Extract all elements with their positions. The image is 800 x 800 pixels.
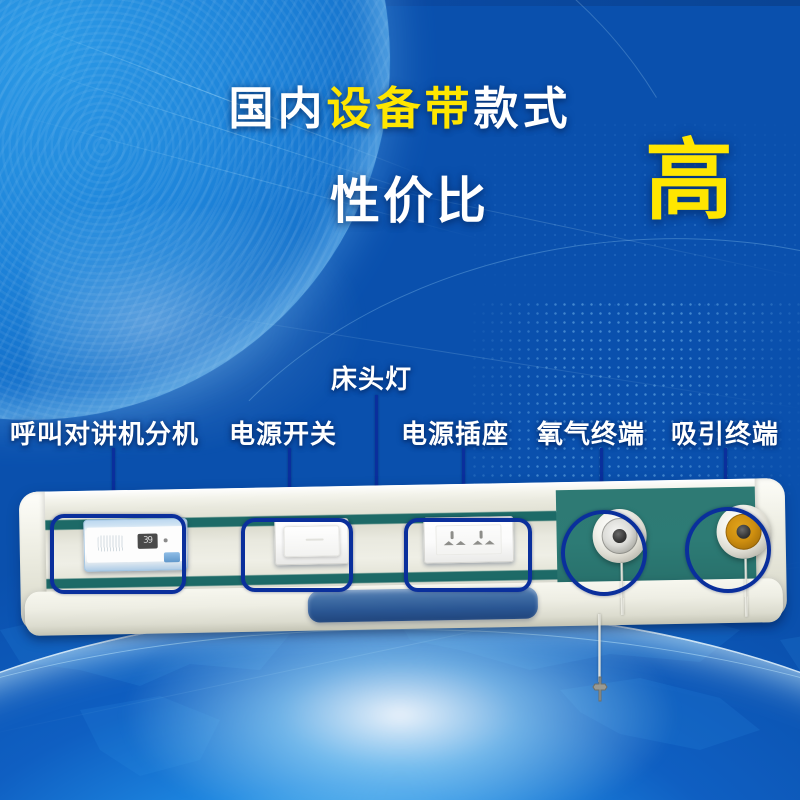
headline-value-text: 性价比 bbox=[330, 161, 489, 233]
highlight-ring-suction bbox=[685, 507, 771, 593]
headline-line-2: 性价比 高 bbox=[0, 155, 800, 235]
callout-label-oxygen: 氧气终端 bbox=[537, 414, 645, 451]
callout-label-bed-lamp: 床头灯 bbox=[331, 359, 412, 396]
promo-banner: 国内设备带款式 性价比 高 呼叫对讲机分机 电源开关 床头灯 电源插座 氧气终端… bbox=[0, 0, 800, 800]
dot-matrix-right bbox=[470, 300, 800, 500]
highlight-ring-power-switch bbox=[241, 518, 353, 592]
callout-label-intercom: 呼叫对讲机分机 bbox=[10, 414, 199, 451]
headline-block: 国内设备带款式 性价比 高 bbox=[0, 86, 800, 235]
headline-emphasis-gao: 高 bbox=[645, 137, 733, 225]
callout-label-power-switch: 电源开关 bbox=[229, 414, 337, 451]
highlight-ring-oxygen bbox=[561, 510, 647, 596]
highlight-ring-intercom bbox=[50, 514, 186, 594]
pull-cord-handle-icon[interactable] bbox=[588, 676, 612, 702]
highlight-ring-power-socket bbox=[404, 518, 532, 592]
callout-label-suction: 吸引终端 bbox=[671, 414, 779, 451]
headline-line1-part1: 国内 bbox=[228, 83, 326, 134]
headline-line-1: 国内设备带款式 bbox=[0, 86, 800, 131]
headline-line1-highlight: 设备带 bbox=[326, 83, 473, 134]
headline-line1-part2: 款式 bbox=[474, 83, 572, 134]
pull-cord bbox=[598, 614, 601, 682]
callout-label-power-socket: 电源插座 bbox=[401, 414, 509, 451]
